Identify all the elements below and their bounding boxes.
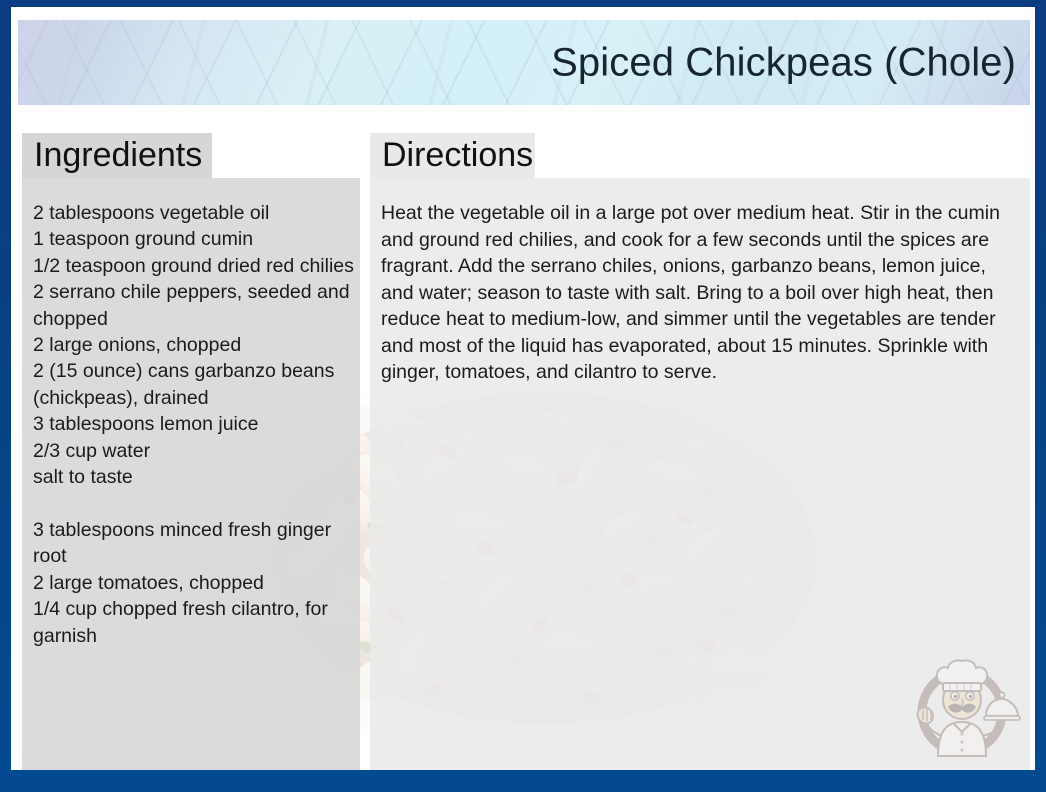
tab-ingredients[interactable]: Ingredients	[22, 133, 212, 178]
directions-panel: Heat the vegetable oil in a large pot ov…	[370, 178, 1030, 770]
ingredients-panel: 2 tablespoons vegetable oil 1 teaspoon g…	[22, 178, 360, 770]
ingredients-panel-body: 2 tablespoons vegetable oil 1 teaspoon g…	[22, 178, 360, 649]
header-banner: Spiced Chickpeas (Chole)	[18, 20, 1030, 105]
page-title: Spiced Chickpeas (Chole)	[551, 40, 1016, 85]
recipe-card: Spiced Chickpeas (Chole)	[0, 0, 1046, 792]
ingredients-list: 2 tablespoons vegetable oil 1 teaspoon g…	[33, 200, 355, 649]
directions-panel-body: Heat the vegetable oil in a large pot ov…	[370, 178, 1030, 386]
tab-directions[interactable]: Directions	[370, 133, 535, 178]
page-surface: Spiced Chickpeas (Chole)	[11, 7, 1035, 770]
directions-text: Heat the vegetable oil in a large pot ov…	[381, 200, 1025, 386]
